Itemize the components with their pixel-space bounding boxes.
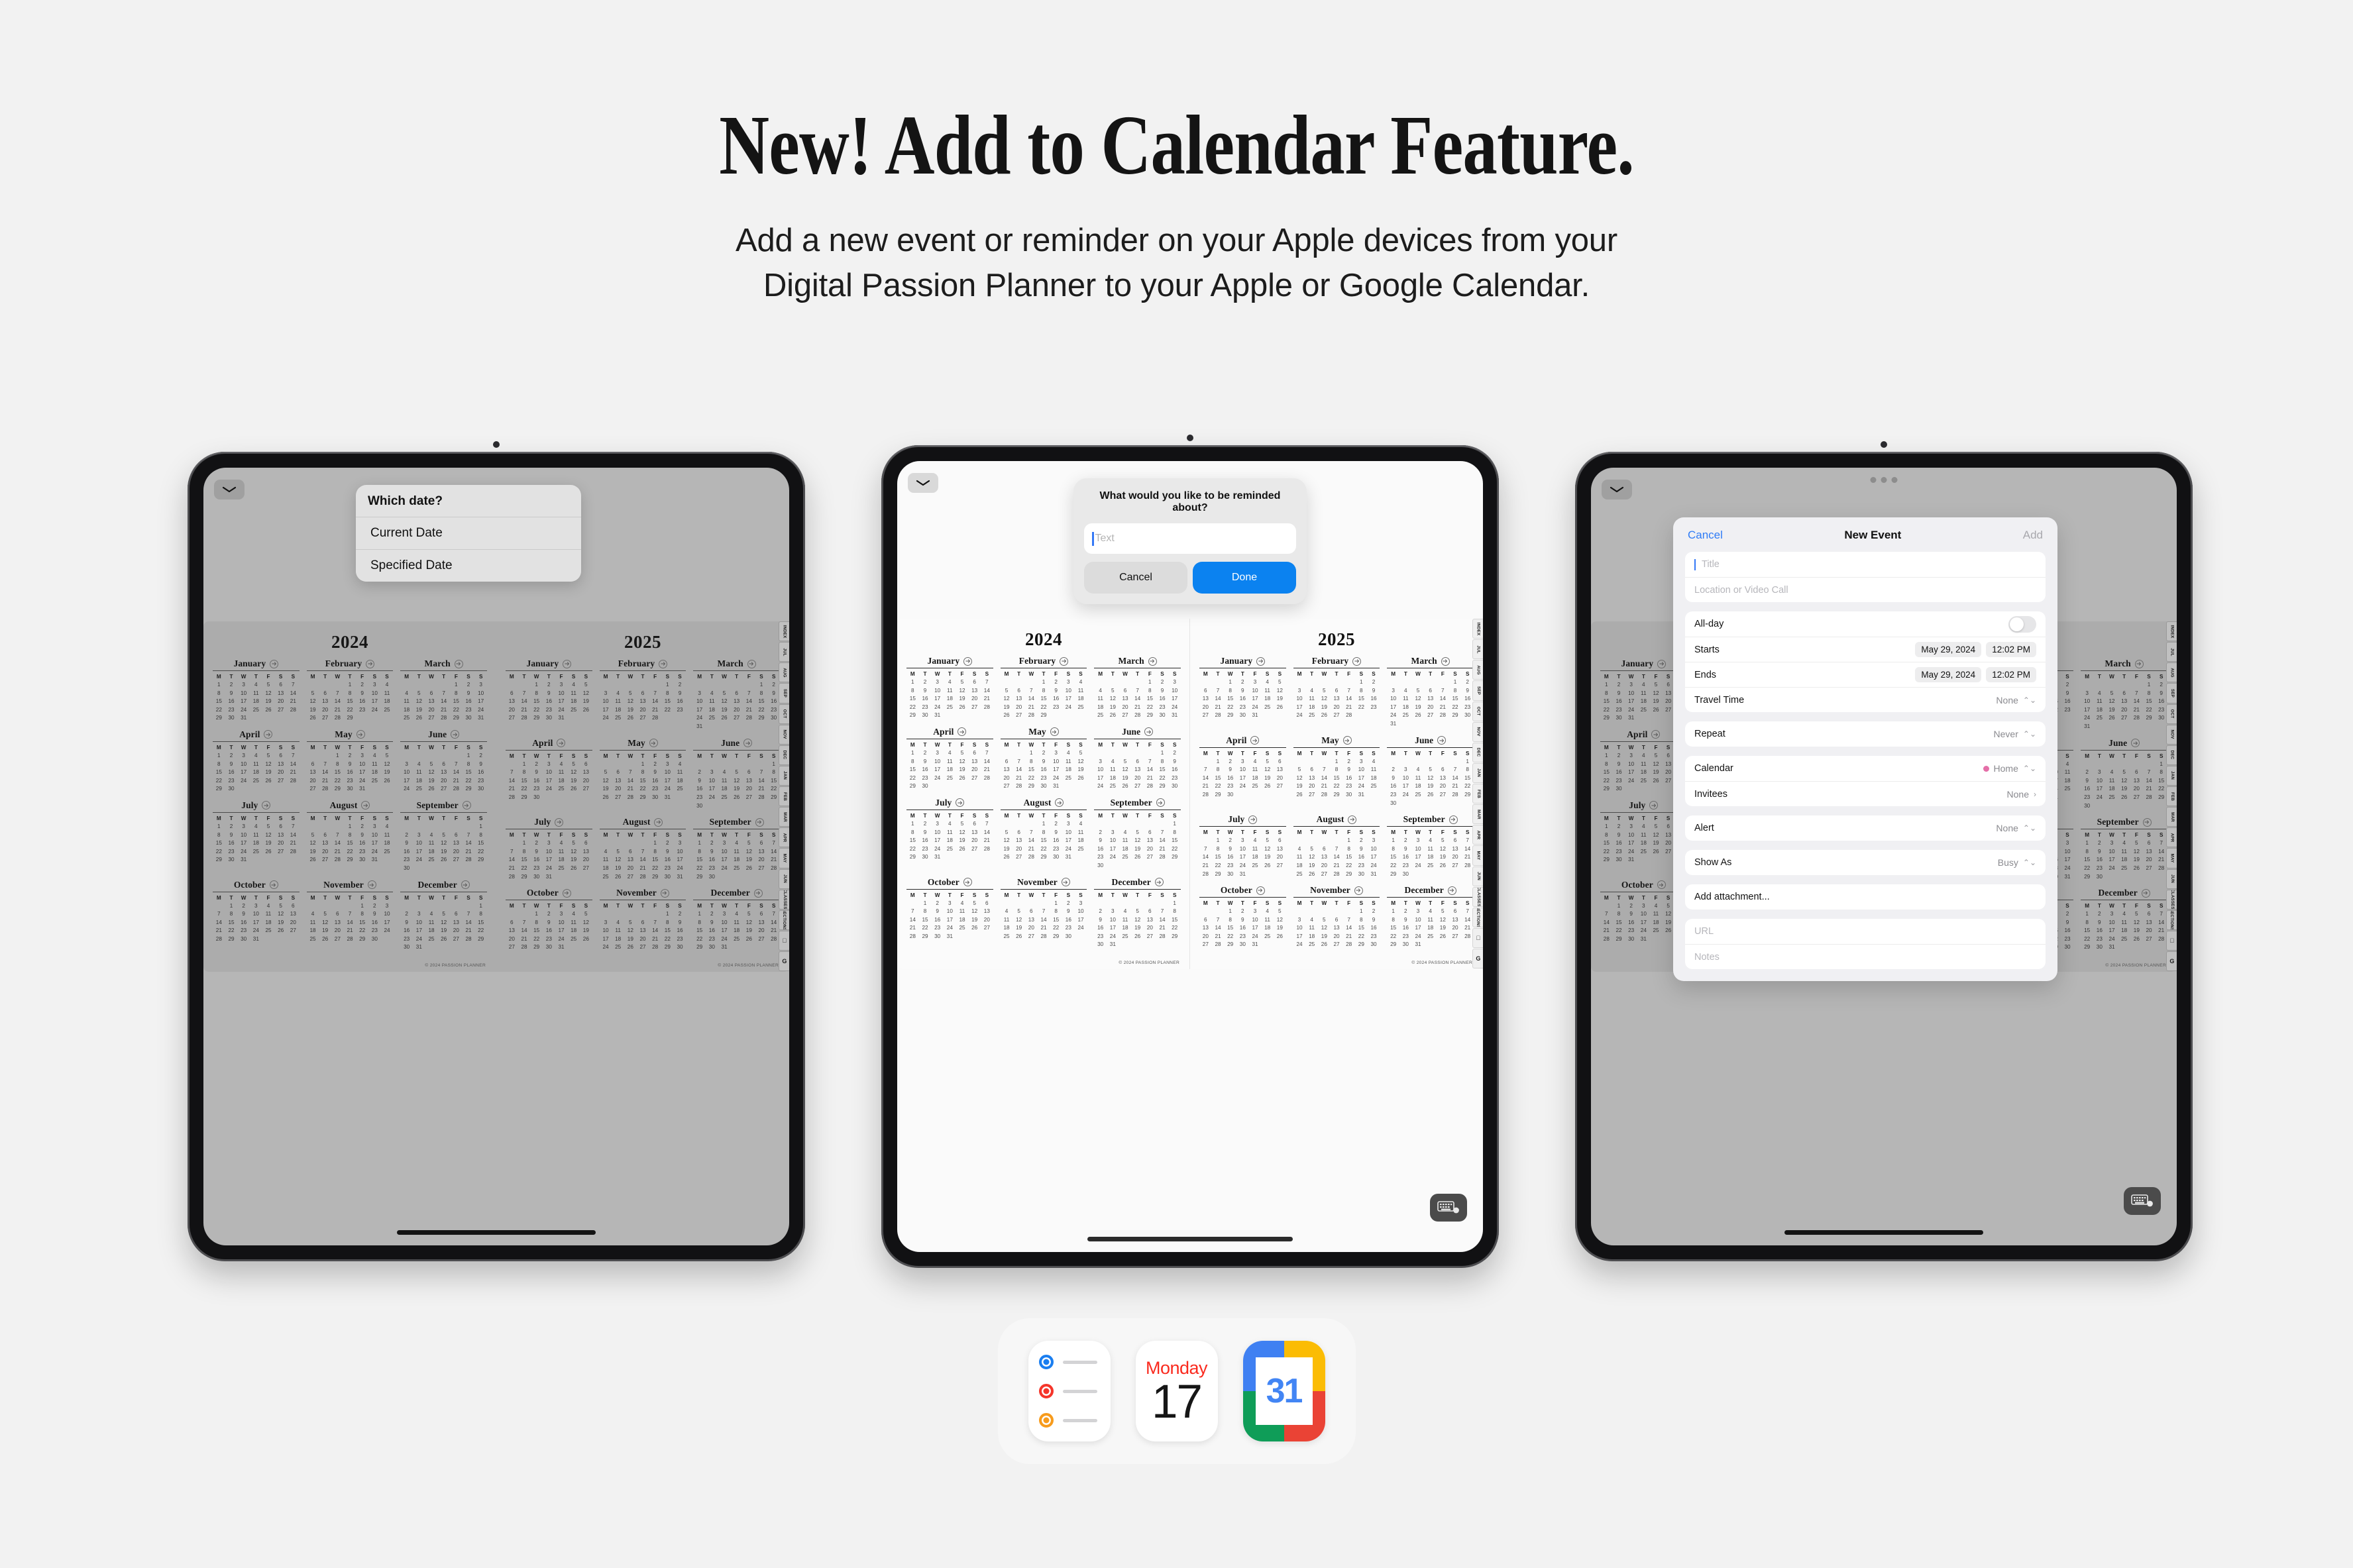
day-cell[interactable]: 10 bbox=[1236, 766, 1249, 774]
day-cell[interactable]: 25 bbox=[1119, 933, 1132, 941]
day-cell[interactable]: 7 bbox=[463, 831, 475, 840]
day-cell[interactable]: 21 bbox=[518, 706, 531, 715]
day-cell[interactable]: 21 bbox=[287, 698, 300, 706]
row-invitees[interactable]: Invitees None› bbox=[1685, 781, 2046, 806]
day-cell[interactable]: 11 bbox=[1261, 687, 1274, 696]
day-cell[interactable]: 11 bbox=[381, 690, 394, 698]
day-cell[interactable]: 10 bbox=[600, 927, 612, 935]
day-cell[interactable]: 17 bbox=[555, 698, 568, 706]
day-cell[interactable]: 25 bbox=[567, 935, 580, 944]
day-cell[interactable]: 6 bbox=[274, 823, 287, 831]
day-cell[interactable]: 14 bbox=[1212, 924, 1225, 933]
day-cell[interactable]: 24 bbox=[600, 714, 612, 723]
day-cell[interactable]: 3 bbox=[661, 760, 674, 769]
day-cell[interactable]: 5 bbox=[956, 820, 969, 829]
day-cell[interactable]: 1 bbox=[474, 902, 487, 911]
day-cell[interactable]: 8 bbox=[1600, 760, 1613, 769]
day-cell[interactable]: 6 bbox=[1424, 687, 1437, 696]
day-cell[interactable]: 16 bbox=[2093, 927, 2106, 935]
day-cell[interactable]: 31 bbox=[674, 873, 686, 882]
day-cell[interactable]: 2 bbox=[400, 910, 413, 919]
day-cell[interactable]: 13 bbox=[730, 698, 743, 706]
day-cell[interactable]: 24 bbox=[237, 777, 250, 786]
day-cell[interactable]: 31 bbox=[368, 856, 381, 864]
day-cell[interactable]: 31 bbox=[543, 873, 555, 882]
day-cell[interactable]: 11 bbox=[425, 839, 438, 848]
day-cell[interactable]: 23 bbox=[1368, 933, 1380, 941]
day-cell[interactable]: 24 bbox=[1062, 704, 1075, 712]
day-cell[interactable]: 30 bbox=[356, 856, 368, 864]
day-cell[interactable]: 21 bbox=[506, 864, 518, 873]
day-cell[interactable]: 15 bbox=[530, 698, 543, 706]
day-cell[interactable]: 23 bbox=[356, 848, 368, 857]
day-cell[interactable]: 24 bbox=[1168, 704, 1181, 712]
day-cell[interactable]: 29 bbox=[450, 714, 463, 723]
day-cell[interactable]: 5 bbox=[262, 681, 275, 690]
day-cell[interactable]: 23 bbox=[1368, 704, 1380, 712]
day-cell[interactable]: 8 bbox=[906, 687, 919, 696]
day-cell[interactable]: 11 bbox=[2118, 848, 2130, 857]
day-cell[interactable]: 17 bbox=[693, 706, 706, 715]
day-cell[interactable]: 29 bbox=[2081, 943, 2093, 952]
row-starts[interactable]: Starts May 29, 2024 12:02 PM bbox=[1685, 637, 2046, 662]
day-cell[interactable]: 8 bbox=[530, 690, 543, 698]
day-cell[interactable]: 28 bbox=[981, 704, 993, 712]
day-cell[interactable]: 6 bbox=[2143, 910, 2156, 919]
day-cell[interactable]: 10 bbox=[368, 690, 381, 698]
day-cell[interactable]: 3 bbox=[931, 678, 944, 687]
day-cell[interactable]: 29 bbox=[1156, 782, 1169, 791]
day-cell[interactable]: 1 bbox=[1342, 837, 1355, 845]
day-cell[interactable]: 1 bbox=[693, 910, 706, 919]
day-cell[interactable]: 9 bbox=[674, 919, 686, 927]
day-cell[interactable]: 3 bbox=[1368, 837, 1380, 845]
day-cell[interactable]: 13 bbox=[1144, 837, 1156, 845]
day-cell[interactable]: 6 bbox=[319, 690, 331, 698]
day-cell[interactable]: 19 bbox=[437, 848, 450, 857]
day-cell[interactable]: 5 bbox=[437, 831, 450, 840]
day-cell[interactable]: 23 bbox=[1613, 777, 1625, 786]
side-tab-google-icon[interactable]: G bbox=[2166, 951, 2177, 971]
day-cell[interactable]: 27 bbox=[1331, 711, 1343, 720]
day-cell[interactable]: 27 bbox=[319, 714, 331, 723]
day-cell[interactable]: 31 bbox=[2081, 723, 2093, 731]
day-cell[interactable]: 21 bbox=[1199, 862, 1212, 870]
day-cell[interactable]: 26 bbox=[600, 794, 612, 802]
day-cell[interactable]: 6 bbox=[580, 760, 592, 769]
day-cell[interactable]: 21 bbox=[1342, 704, 1355, 712]
day-cell[interactable]: 14 bbox=[1025, 837, 1038, 845]
day-cell[interactable]: 17 bbox=[674, 856, 686, 864]
day-cell[interactable]: 7 bbox=[506, 768, 518, 777]
day-cell[interactable]: 19 bbox=[2130, 927, 2143, 935]
day-cell[interactable]: 10 bbox=[1637, 910, 1650, 919]
day-cell[interactable]: 5 bbox=[1650, 823, 1663, 831]
day-cell[interactable]: 19 bbox=[580, 698, 592, 706]
day-cell[interactable]: 16 bbox=[237, 919, 250, 927]
day-cell[interactable]: 4 bbox=[307, 910, 319, 919]
day-cell[interactable]: 20 bbox=[1437, 782, 1449, 791]
day-cell[interactable]: 26 bbox=[2130, 935, 2143, 944]
day-cell[interactable]: 13 bbox=[1199, 695, 1212, 704]
day-cell[interactable]: 31 bbox=[474, 714, 487, 723]
cancel-button[interactable]: Cancel bbox=[1688, 529, 1723, 542]
row-alert[interactable]: Alert None⌃⌄ bbox=[1685, 815, 2046, 841]
month-arrow-icon[interactable] bbox=[2143, 818, 2152, 827]
day-cell[interactable]: 4 bbox=[1107, 758, 1119, 766]
day-cell[interactable]: 24 bbox=[1625, 848, 1637, 857]
day-cell[interactable]: 16 bbox=[1224, 853, 1236, 862]
day-cell[interactable]: 5 bbox=[262, 823, 275, 831]
day-cell[interactable]: 29 bbox=[356, 935, 368, 944]
day-cell[interactable]: 20 bbox=[968, 766, 981, 774]
day-cell[interactable]: 22 bbox=[2081, 935, 2093, 944]
day-cell[interactable]: 29 bbox=[1613, 935, 1625, 944]
day-cell[interactable]: 30 bbox=[344, 785, 356, 794]
day-cell[interactable]: 13 bbox=[580, 848, 592, 857]
day-cell[interactable]: 17 bbox=[555, 927, 568, 935]
day-cell[interactable]: 12 bbox=[1650, 831, 1663, 840]
day-cell[interactable]: 1 bbox=[530, 681, 543, 690]
day-cell[interactable]: 3 bbox=[1412, 908, 1425, 916]
day-cell[interactable]: 18 bbox=[1368, 774, 1380, 783]
day-cell[interactable]: 19 bbox=[718, 706, 731, 715]
ends-date-pill[interactable]: May 29, 2024 bbox=[1915, 667, 1981, 682]
day-cell[interactable]: 18 bbox=[425, 927, 438, 935]
day-cell[interactable]: 22 bbox=[1050, 924, 1062, 933]
day-cell[interactable]: 16 bbox=[693, 785, 706, 794]
day-cell[interactable]: 11 bbox=[612, 927, 624, 935]
day-cell[interactable]: 8 bbox=[1331, 766, 1343, 774]
day-cell[interactable]: 14 bbox=[743, 698, 755, 706]
day-cell[interactable]: 9 bbox=[706, 919, 718, 927]
day-cell[interactable]: 5 bbox=[956, 749, 969, 758]
day-cell[interactable]: 29 bbox=[344, 856, 356, 864]
day-cell[interactable]: 27 bbox=[2143, 864, 2156, 873]
day-cell[interactable]: 27 bbox=[1424, 711, 1437, 720]
day-cell[interactable]: 25 bbox=[1119, 853, 1132, 862]
day-cell[interactable]: 15 bbox=[1600, 768, 1613, 777]
day-cell[interactable]: 14 bbox=[319, 768, 331, 777]
day-cell[interactable]: 27 bbox=[1274, 862, 1286, 870]
day-cell[interactable]: 29 bbox=[1600, 856, 1613, 864]
month-arrow-icon[interactable] bbox=[1062, 878, 1070, 886]
day-cell[interactable]: 30 bbox=[919, 782, 932, 791]
day-cell[interactable]: 24 bbox=[1293, 941, 1306, 949]
day-cell[interactable]: 30 bbox=[225, 785, 238, 794]
day-cell[interactable]: 18 bbox=[368, 768, 381, 777]
day-cell[interactable]: 6 bbox=[1274, 758, 1286, 766]
day-cell[interactable]: 17 bbox=[1412, 853, 1425, 862]
day-cell[interactable]: 13 bbox=[425, 698, 438, 706]
day-cell[interactable]: 23 bbox=[344, 777, 356, 786]
day-cell[interactable]: 2 bbox=[356, 681, 368, 690]
day-cell[interactable]: 15 bbox=[2081, 927, 2093, 935]
day-cell[interactable]: 12 bbox=[1261, 845, 1274, 854]
side-tab-sep[interactable]: SEP bbox=[2166, 683, 2177, 703]
day-cell[interactable]: 11 bbox=[944, 687, 956, 696]
day-cell[interactable]: 16 bbox=[1399, 853, 1412, 862]
side-tab-apple-icon[interactable]:  bbox=[779, 931, 789, 951]
day-cell[interactable]: 17 bbox=[1355, 774, 1368, 783]
day-cell[interactable]: 22 bbox=[2081, 864, 2093, 873]
day-cell[interactable]: 18 bbox=[674, 777, 686, 786]
day-cell[interactable]: 23 bbox=[1094, 853, 1107, 862]
day-cell[interactable]: 17 bbox=[413, 848, 425, 857]
day-cell[interactable]: 11 bbox=[730, 919, 743, 927]
day-cell[interactable]: 13 bbox=[307, 768, 319, 777]
day-cell[interactable]: 30 bbox=[237, 935, 250, 944]
day-cell[interactable]: 23 bbox=[368, 927, 381, 935]
day-cell[interactable]: 31 bbox=[237, 714, 250, 723]
day-cell[interactable]: 1 bbox=[344, 681, 356, 690]
day-cell[interactable]: 27 bbox=[274, 706, 287, 715]
day-cell[interactable]: 2 bbox=[474, 752, 487, 760]
day-cell[interactable]: 27 bbox=[1274, 782, 1286, 791]
day-cell[interactable]: 13 bbox=[437, 768, 450, 777]
day-cell[interactable]: 22 bbox=[1600, 848, 1613, 857]
day-cell[interactable]: 20 bbox=[612, 785, 624, 794]
day-cell[interactable]: 28 bbox=[213, 935, 225, 944]
day-cell[interactable]: 19 bbox=[1318, 704, 1331, 712]
day-cell[interactable]: 25 bbox=[2093, 714, 2106, 723]
day-cell[interactable]: 12 bbox=[1107, 695, 1119, 704]
day-cell[interactable]: 6 bbox=[1449, 837, 1462, 845]
day-cell[interactable]: 8 bbox=[474, 910, 487, 919]
day-cell[interactable]: 31 bbox=[2106, 943, 2118, 952]
day-cell[interactable]: 13 bbox=[2130, 777, 2143, 786]
day-cell[interactable]: 7 bbox=[1342, 916, 1355, 925]
day-cell[interactable]: 15 bbox=[1212, 774, 1225, 783]
day-cell[interactable]: 25 bbox=[1424, 862, 1437, 870]
day-cell[interactable]: 16 bbox=[543, 927, 555, 935]
day-cell[interactable]: 6 bbox=[981, 900, 993, 908]
day-cell[interactable]: 26 bbox=[1075, 774, 1087, 783]
day-cell[interactable]: 4 bbox=[1119, 829, 1132, 837]
day-cell[interactable]: 16 bbox=[474, 768, 487, 777]
day-cell[interactable]: 13 bbox=[319, 698, 331, 706]
day-cell[interactable]: 20 bbox=[2118, 706, 2130, 715]
day-cell[interactable]: 20 bbox=[580, 856, 592, 864]
day-cell[interactable]: 25 bbox=[1075, 845, 1087, 854]
day-cell[interactable]: 24 bbox=[1412, 862, 1425, 870]
day-cell[interactable]: 22 bbox=[1224, 704, 1236, 712]
day-cell[interactable]: 25 bbox=[1637, 848, 1650, 857]
day-cell[interactable]: 5 bbox=[381, 752, 394, 760]
day-cell[interactable]: 25 bbox=[1305, 941, 1318, 949]
month-arrow-icon[interactable] bbox=[451, 730, 459, 739]
side-tab-classes[interactable]: CLASSES bbox=[2166, 890, 2177, 910]
day-cell[interactable]: 18 bbox=[944, 695, 956, 704]
day-cell[interactable]: 9 bbox=[1613, 760, 1625, 769]
day-cell[interactable]: 6 bbox=[1119, 687, 1132, 696]
day-cell[interactable]: 2 bbox=[674, 910, 686, 919]
day-cell[interactable]: 28 bbox=[331, 714, 344, 723]
day-cell[interactable]: 4 bbox=[1412, 766, 1425, 774]
day-cell[interactable]: 3 bbox=[1399, 766, 1412, 774]
day-cell[interactable]: 28 bbox=[437, 714, 450, 723]
day-cell[interactable]: 5 bbox=[580, 910, 592, 919]
day-cell[interactable]: 26 bbox=[1274, 704, 1286, 712]
day-cell[interactable]: 4 bbox=[1650, 902, 1663, 911]
day-cell[interactable]: 5 bbox=[956, 678, 969, 687]
day-cell[interactable]: 26 bbox=[413, 714, 425, 723]
day-cell[interactable]: 19 bbox=[1075, 766, 1087, 774]
month-arrow-icon[interactable] bbox=[1343, 736, 1352, 745]
day-cell[interactable]: 5 bbox=[437, 910, 450, 919]
day-cell[interactable]: 28 bbox=[1156, 933, 1169, 941]
day-cell[interactable]: 18 bbox=[413, 777, 425, 786]
day-cell[interactable]: 30 bbox=[1355, 870, 1368, 879]
day-cell[interactable]: 22 bbox=[637, 785, 649, 794]
day-cell[interactable]: 20 bbox=[1449, 853, 1462, 862]
day-cell[interactable]: 23 bbox=[225, 848, 238, 857]
day-cell[interactable]: 7 bbox=[319, 760, 331, 769]
day-cell[interactable]: 22 bbox=[1168, 924, 1181, 933]
day-cell[interactable]: 1 bbox=[1038, 678, 1050, 687]
day-cell[interactable]: 2 bbox=[225, 681, 238, 690]
day-cell[interactable]: 14 bbox=[437, 698, 450, 706]
day-cell[interactable]: 17 bbox=[931, 766, 944, 774]
day-cell[interactable]: 5 bbox=[307, 831, 319, 840]
day-cell[interactable]: 31 bbox=[1107, 941, 1119, 949]
day-cell[interactable]: 30 bbox=[2081, 802, 2093, 811]
day-cell[interactable]: 16 bbox=[543, 698, 555, 706]
day-cell[interactable]: 30 bbox=[543, 943, 555, 952]
side-tab-may[interactable]: MAY bbox=[779, 848, 789, 868]
day-cell[interactable]: 28 bbox=[518, 714, 531, 723]
day-cell[interactable]: 17 bbox=[543, 856, 555, 864]
day-cell[interactable]: 11 bbox=[555, 768, 568, 777]
day-cell[interactable]: 5 bbox=[1437, 837, 1449, 845]
day-cell[interactable]: 24 bbox=[718, 864, 731, 873]
day-cell[interactable]: 9 bbox=[225, 831, 238, 840]
day-cell[interactable]: 7 bbox=[1449, 766, 1462, 774]
day-cell[interactable]: 20 bbox=[2143, 856, 2156, 864]
day-cell[interactable]: 15 bbox=[1355, 695, 1368, 704]
day-cell[interactable]: 3 bbox=[1625, 752, 1637, 760]
day-cell[interactable]: 16 bbox=[2061, 927, 2074, 935]
day-cell[interactable]: 20 bbox=[1305, 782, 1318, 791]
day-cell[interactable]: 30 bbox=[368, 935, 381, 944]
day-cell[interactable]: 4 bbox=[381, 823, 394, 831]
starts-time-pill[interactable]: 12:02 PM bbox=[1986, 642, 2036, 657]
apple-calendar-app-icon[interactable]: Monday 17 bbox=[1136, 1341, 1218, 1441]
day-cell[interactable]: 6 bbox=[1199, 916, 1212, 925]
day-cell[interactable]: 4 bbox=[612, 919, 624, 927]
day-cell[interactable]: 19 bbox=[274, 919, 287, 927]
day-cell[interactable]: 25 bbox=[555, 785, 568, 794]
day-cell[interactable]: 23 bbox=[1050, 845, 1062, 854]
side-tab-aug[interactable]: AUG bbox=[779, 662, 789, 682]
day-cell[interactable]: 4 bbox=[1075, 678, 1087, 687]
day-cell[interactable]: 19 bbox=[1437, 853, 1449, 862]
day-cell[interactable]: 7 bbox=[518, 919, 531, 927]
day-cell[interactable]: 23 bbox=[1062, 924, 1075, 933]
day-cell[interactable]: 4 bbox=[1075, 820, 1087, 829]
day-cell[interactable]: 18 bbox=[400, 706, 413, 715]
day-cell[interactable]: 30 bbox=[225, 714, 238, 723]
day-cell[interactable]: 22 bbox=[661, 935, 674, 944]
day-cell[interactable]: 13 bbox=[319, 839, 331, 848]
day-cell[interactable]: 16 bbox=[919, 695, 932, 704]
day-cell[interactable]: 11 bbox=[2106, 777, 2118, 786]
day-cell[interactable]: 11 bbox=[1293, 853, 1306, 862]
day-cell[interactable]: 26 bbox=[425, 785, 438, 794]
day-cell[interactable]: 8 bbox=[1355, 916, 1368, 925]
day-cell[interactable]: 17 bbox=[1236, 774, 1249, 783]
day-cell[interactable]: 25 bbox=[1062, 774, 1075, 783]
day-cell[interactable]: 10 bbox=[356, 760, 368, 769]
day-cell[interactable]: 29 bbox=[919, 933, 932, 941]
day-cell[interactable]: 7 bbox=[331, 690, 344, 698]
day-cell[interactable]: 16 bbox=[1368, 924, 1380, 933]
month-arrow-icon[interactable] bbox=[563, 660, 571, 668]
day-cell[interactable]: 20 bbox=[580, 777, 592, 786]
day-cell[interactable]: 6 bbox=[506, 919, 518, 927]
day-cell[interactable]: 19 bbox=[307, 706, 319, 715]
day-cell[interactable]: 20 bbox=[637, 706, 649, 715]
day-cell[interactable]: 1 bbox=[1387, 837, 1399, 845]
side-tab-jan[interactable]: JAN bbox=[779, 766, 789, 786]
day-cell[interactable]: 12 bbox=[1119, 766, 1132, 774]
day-cell[interactable]: 7 bbox=[344, 910, 356, 919]
day-cell[interactable]: 13 bbox=[968, 758, 981, 766]
day-cell[interactable]: 8 bbox=[1613, 910, 1625, 919]
add-button[interactable]: Add bbox=[2023, 529, 2043, 542]
day-cell[interactable]: 8 bbox=[518, 768, 531, 777]
day-cell[interactable]: 5 bbox=[1437, 908, 1449, 916]
day-cell[interactable]: 7 bbox=[981, 678, 993, 687]
day-cell[interactable]: 1 bbox=[1212, 758, 1225, 766]
day-cell[interactable]: 16 bbox=[225, 839, 238, 848]
day-cell[interactable]: 20 bbox=[1424, 704, 1437, 712]
day-cell[interactable]: 18 bbox=[307, 927, 319, 935]
day-cell[interactable]: 5 bbox=[1424, 766, 1437, 774]
day-cell[interactable]: 21 bbox=[2143, 785, 2156, 794]
day-cell[interactable]: 8 bbox=[693, 919, 706, 927]
day-cell[interactable]: 8 bbox=[213, 831, 225, 840]
day-cell[interactable]: 25 bbox=[1305, 711, 1318, 720]
day-cell[interactable]: 19 bbox=[956, 695, 969, 704]
day-cell[interactable]: 14 bbox=[981, 758, 993, 766]
day-cell[interactable]: 19 bbox=[2118, 785, 2130, 794]
day-cell[interactable]: 1 bbox=[1387, 908, 1399, 916]
day-cell[interactable]: 23 bbox=[1342, 782, 1355, 791]
day-cell[interactable]: 10 bbox=[1625, 690, 1637, 698]
day-cell[interactable]: 15 bbox=[518, 777, 531, 786]
day-cell[interactable]: 14 bbox=[1212, 695, 1225, 704]
day-cell[interactable]: 24 bbox=[381, 927, 394, 935]
day-cell[interactable]: 27 bbox=[612, 794, 624, 802]
day-cell[interactable]: 21 bbox=[981, 766, 993, 774]
day-cell[interactable]: 4 bbox=[1261, 908, 1274, 916]
day-cell[interactable]: 19 bbox=[567, 856, 580, 864]
day-cell[interactable]: 25 bbox=[1001, 933, 1013, 941]
day-cell[interactable]: 3 bbox=[1168, 678, 1181, 687]
side-tab-jun[interactable]: JUN bbox=[779, 869, 789, 889]
day-cell[interactable]: 16 bbox=[1094, 924, 1107, 933]
day-cell[interactable]: 27 bbox=[450, 856, 463, 864]
day-cell[interactable]: 17 bbox=[1625, 768, 1637, 777]
day-cell[interactable]: 24 bbox=[474, 706, 487, 715]
day-cell[interactable]: 8 bbox=[919, 908, 932, 916]
day-cell[interactable]: 10 bbox=[1075, 908, 1087, 916]
day-cell[interactable]: 11 bbox=[674, 768, 686, 777]
day-cell[interactable]: 9 bbox=[1368, 916, 1380, 925]
day-cell[interactable]: 6 bbox=[450, 910, 463, 919]
side-tab-apr[interactable]: APR bbox=[1472, 825, 1483, 845]
